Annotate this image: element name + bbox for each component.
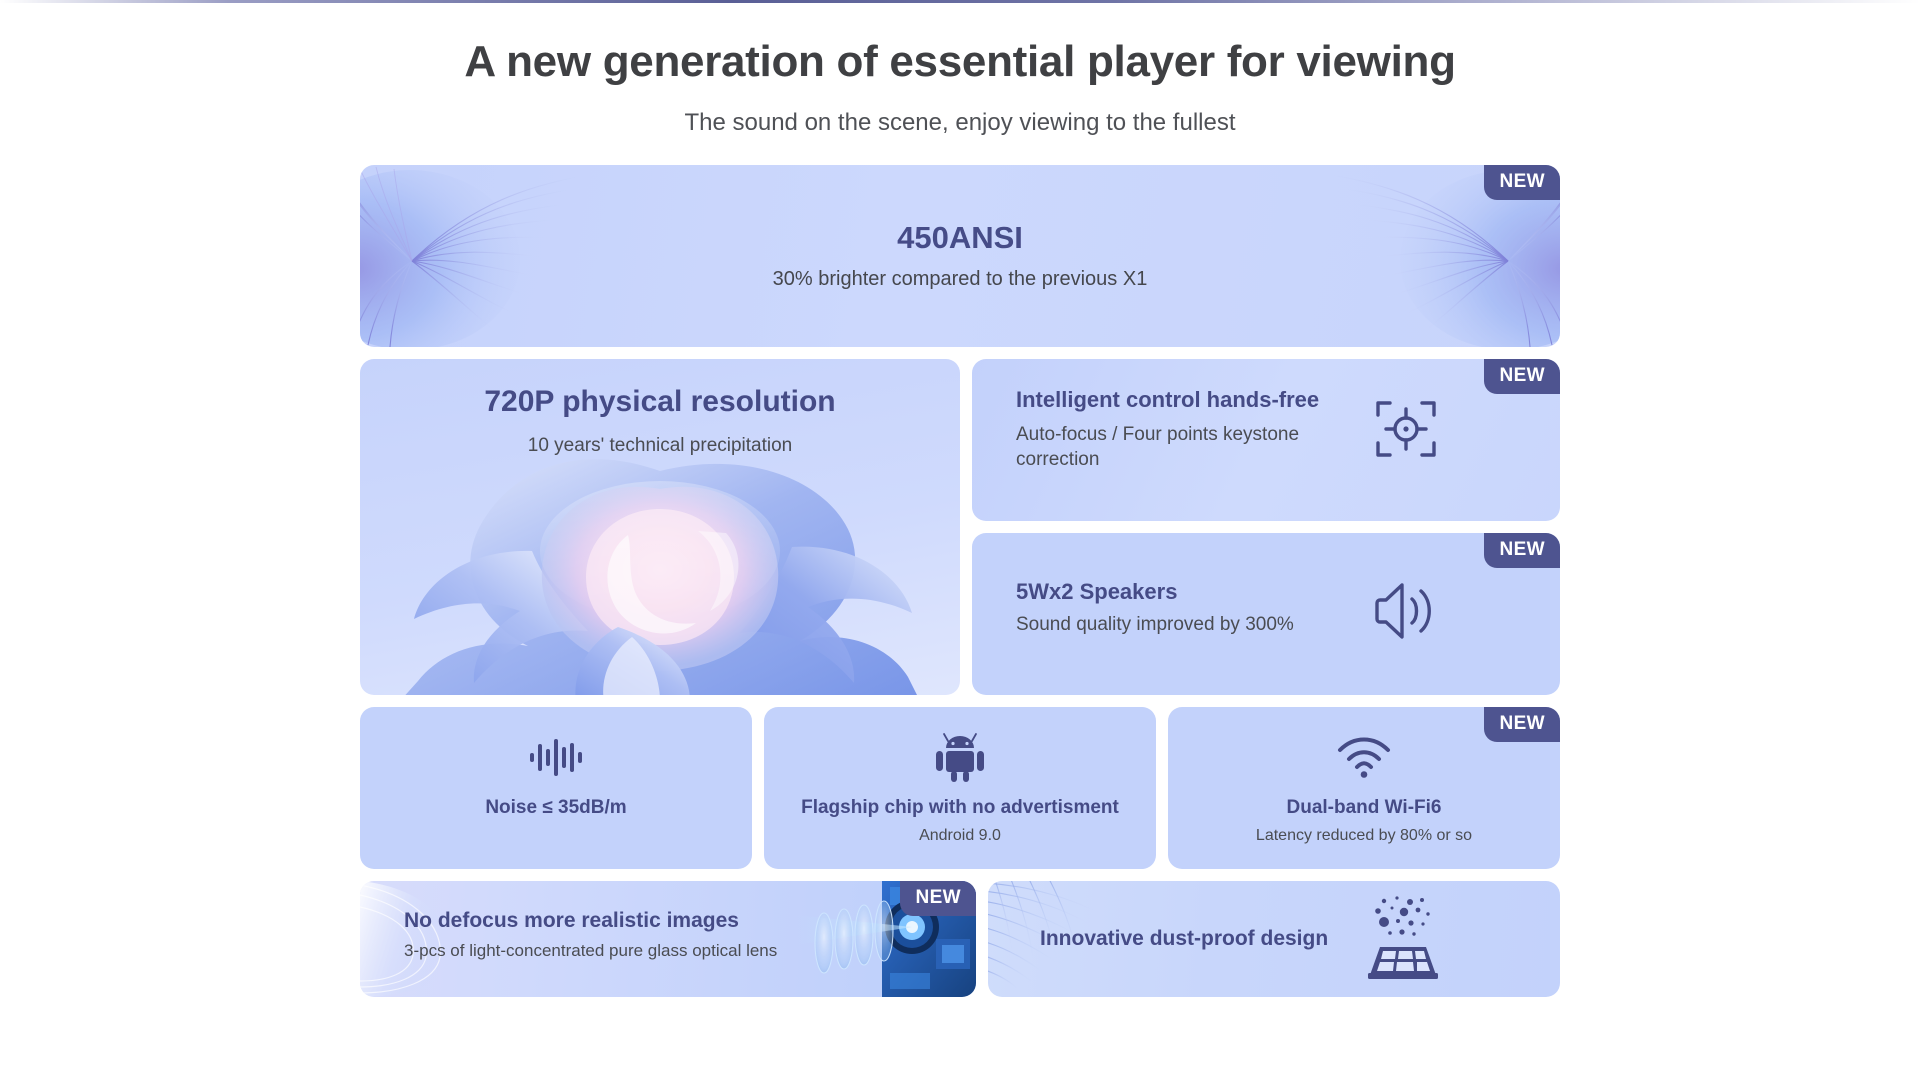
feature-card-intelligent-control[interactable]: NEW Intelligent control hands-free Auto-… xyxy=(972,359,1560,521)
side-feature-column: NEW Intelligent control hands-free Auto-… xyxy=(972,359,1560,695)
feature-card-optics[interactable]: NEW No defocus more realistic images 3-p… xyxy=(360,881,976,997)
feature-grid: NEW 450ANSI 30% brighter compared to the… xyxy=(360,165,1560,997)
soft-wave-decor-icon xyxy=(360,881,580,997)
feature-tile-noise[interactable]: Noise ≤ 35dB/m xyxy=(360,707,752,869)
speaker-volume-icon xyxy=(1372,577,1440,645)
feature-card-dustproof[interactable]: Innovative dust-proof design xyxy=(988,881,1560,997)
wifi-subtitle: Latency reduced by 80% or so xyxy=(1168,827,1560,845)
chip-title: Flagship chip with no advertisment xyxy=(764,797,1156,819)
sound-waveform-icon xyxy=(360,731,752,783)
product-feature-page: A new generation of essential player for… xyxy=(0,0,1920,1081)
status-badge-new: NEW xyxy=(900,881,976,916)
noise-title: Noise ≤ 35dB/m xyxy=(360,797,752,819)
status-badge-new: NEW xyxy=(1484,359,1560,394)
wifi-title: Dual-band Wi-Fi6 xyxy=(1168,797,1560,819)
dustproof-title: Innovative dust-proof design xyxy=(1040,927,1328,951)
optics-subtitle: 3-pcs of light-concentrated pure glass o… xyxy=(404,941,976,961)
feature-row-secondary: 720P physical resolution 10 years' techn… xyxy=(360,359,1560,695)
optics-title: No defocus more realistic images xyxy=(404,909,976,933)
status-badge-new: NEW xyxy=(1484,165,1560,200)
status-badge-new: NEW xyxy=(1484,533,1560,568)
feather-fan-pattern-icon xyxy=(360,165,640,347)
chip-subtitle: Android 9.0 xyxy=(764,827,1156,845)
android-robot-icon xyxy=(764,731,1156,783)
speakers-subtitle: Sound quality improved by 300% xyxy=(1016,614,1560,636)
intelligent-control-subtitle: Auto-focus / Four points keystone correc… xyxy=(1016,422,1356,473)
speakers-title: 5Wx2 Speakers xyxy=(1016,579,1560,605)
brightness-title: 450ANSI xyxy=(897,220,1023,256)
autofocus-target-icon xyxy=(1372,395,1440,463)
brightness-subtitle: 30% brighter compared to the previous X1 xyxy=(773,268,1148,291)
resolution-subtitle: 10 years' technical precipitation xyxy=(360,435,960,457)
dust-proof-filter-mesh-icon xyxy=(1362,895,1442,983)
feature-card-resolution[interactable]: 720P physical resolution 10 years' techn… xyxy=(360,359,960,695)
status-badge-new: NEW xyxy=(1484,707,1560,742)
page-title: A new generation of essential player for… xyxy=(0,36,1920,89)
intelligent-control-title: Intelligent control hands-free xyxy=(1016,387,1560,413)
feature-row-wide: NEW No defocus more realistic images 3-p… xyxy=(360,881,1560,997)
feature-card-speakers[interactable]: NEW 5Wx2 Speakers Sound quality improved… xyxy=(972,533,1560,695)
feature-tile-wifi[interactable]: NEW Dual-band Wi-Fi6 Latency reduced by … xyxy=(1168,707,1560,869)
page-subtitle: The sound on the scene, enjoy viewing to… xyxy=(0,109,1920,137)
resolution-column: 720P physical resolution 10 years' techn… xyxy=(360,359,960,695)
feature-row-tiles: Noise ≤ 35dB/m xyxy=(360,707,1560,869)
blue-rose-flower-image xyxy=(360,431,960,695)
feature-tile-chip[interactable]: Flagship chip with no advertisment Andro… xyxy=(764,707,1156,869)
feature-card-brightness[interactable]: NEW 450ANSI 30% brighter compared to the… xyxy=(360,165,1560,347)
resolution-title: 720P physical resolution xyxy=(360,385,960,419)
